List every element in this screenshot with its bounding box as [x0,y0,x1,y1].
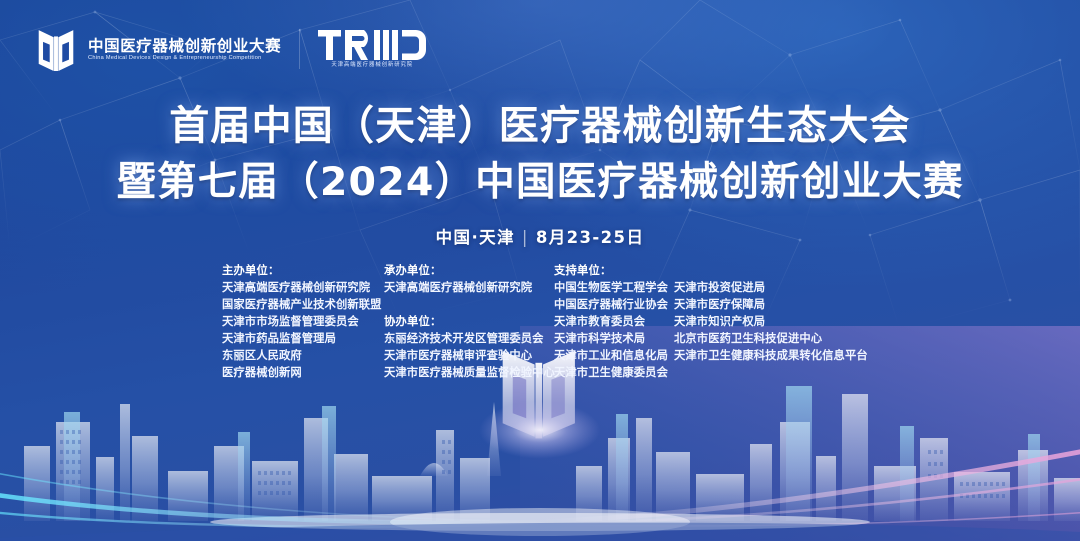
competition-logo-title-en: China Medical Devices Design & Entrepren… [88,56,281,62]
host-item: 天津市药品监督管理局 [222,330,384,347]
competition-logo[interactable]: 中国医疗器械创新创业大赛 China Medical Devices Desig… [33,27,281,71]
host-item: 天津市市场监督管理委员会 [222,313,384,330]
coorganizer-item: 天津市医疗器械质量监督检验中心 [384,364,554,381]
event-dates: 8月23-25日 [536,228,644,247]
host-item: 医疗器械创新网 [222,364,384,381]
host-label: 主办单位： [222,262,384,279]
supporter-item: 中国医疗器械行业协会 [554,296,674,313]
competition-logo-title-cn: 中国医疗器械创新创业大赛 [88,39,281,55]
meta-separator: | [522,228,529,247]
column-spacer [384,296,554,313]
coorganizer-item: 东丽经济技术开发区管理委员会 [384,330,554,347]
event-location: 中国·天津 [436,228,515,247]
coorganizer-label: 协办单位： [384,313,554,330]
event-title-line2: 暨第七届（2024）中国医疗器械创新创业大赛 [0,154,1080,210]
supporter-item: 北京市医药卫生科技促进中心 [674,330,868,347]
coorganizer-item: 天津市医疗器械审评查验中心 [384,347,554,364]
supporters-column-1: 支持单位： 中国生物医学工程学会 中国医疗器械行业协会 天津市教育委员会 天津市… [554,262,674,381]
triid-wordmark-icon [318,30,426,60]
institute-logo[interactable]: 天津高端医疗器械创新研究院 [318,30,426,68]
supporters-label: 支持单位： [554,262,674,279]
logo-divider [299,29,300,69]
institute-logo-subtitle-cn: 天津高端医疗器械创新研究院 [331,63,413,68]
cyan-light-streak-left [0,472,560,527]
host-column: 主办单位： 天津高端医疗器械创新研究院 国家医疗器械产业技术创新联盟 天津市市场… [222,262,384,381]
event-meta: 中国·天津|8月23-25日 [0,224,1080,248]
supporter-item: 天津市工业和信息化局 [554,347,674,364]
supporter-item: 天津市知识产权局 [674,313,868,330]
host-item: 国家医疗器械产业技术创新联盟 [222,296,384,313]
supporter-item: 天津市教育委员会 [554,313,674,330]
open-book-door-logo-mark [33,27,79,71]
host-item: 东丽区人民政府 [222,347,384,364]
organizer-coorganizer-column: 承办单位： 天津高端医疗器械创新研究院 协办单位： 东丽经济技术开发区管理委员会… [384,262,554,381]
magenta-light-streak-right [540,450,1080,526]
event-title-line1: 首届中国（天津）医疗器械创新生态大会 [0,98,1080,154]
supporters-column-2: 天津市投资促进局 天津市医疗保障局 天津市知识产权局 北京市医药卫生科技促进中心… [674,262,868,364]
supporter-item: 中国生物医学工程学会 [554,279,674,296]
header-logo-bar: 中国医疗器械创新创业大赛 China Medical Devices Desig… [33,27,426,71]
conference-banner: 中国医疗器械创新创业大赛 China Medical Devices Desig… [0,0,1080,541]
organizer-label: 承办单位： [384,262,554,279]
organizer-item: 天津高端医疗器械创新研究院 [384,279,554,296]
supporter-item: 天津市医疗保障局 [674,296,868,313]
event-title-block: 首届中国（天津）医疗器械创新生态大会 暨第七届（2024）中国医疗器械创新创业大… [0,98,1080,210]
host-item: 天津高端医疗器械创新研究院 [222,279,384,296]
supporter-item: 天津市卫生健康委员会 [554,364,674,381]
supporter-item: 天津市卫生健康科技成果转化信息平台 [674,347,868,364]
supporter-item: 天津市科学技术局 [554,330,674,347]
organizers-block: 主办单位： 天津高端医疗器械创新研究院 国家医疗器械产业技术创新联盟 天津市市场… [222,262,868,381]
city-skyline-silhouette [24,386,1080,521]
supporter-item: 天津市投资促进局 [674,279,868,296]
